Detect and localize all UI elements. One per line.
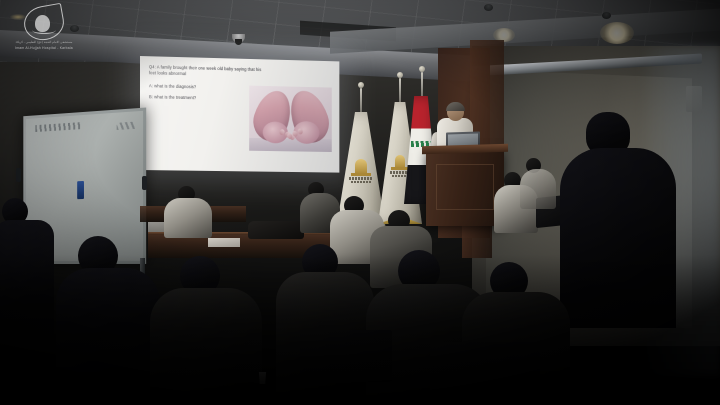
foreground-laptop-2 [430, 342, 540, 392]
watermark: مستشفى الامام الحجة (عج) التعليمي - كربل… [8, 4, 80, 54]
attendee-body [560, 148, 676, 328]
clinical-photo-clubfeet [249, 86, 332, 152]
attendee-body [520, 169, 556, 209]
attendee-body [0, 220, 54, 340]
whiteboard-clip-left [16, 168, 21, 182]
laptop-bag [248, 221, 304, 239]
watermark-english: Imam Al-Hujjah Hospital - Karbala [8, 46, 80, 50]
wooden-podium [426, 150, 504, 226]
watermark-arabic: مستشفى الامام الحجة (عج) التعليمي - كربل… [8, 41, 80, 45]
recessed-ceiling-light [600, 22, 634, 44]
flag-finial-iraq [419, 66, 425, 72]
podium-front-panel [436, 164, 494, 210]
ceiling-downlight-right [602, 12, 611, 19]
conference-hall-photo: Q4: A family brought their one week old … [0, 0, 720, 405]
slide-question: Q4: A family brought their one week old … [149, 64, 265, 80]
foreground-laptop [300, 330, 392, 382]
projected-slide: Q4: A family brought their one week old … [140, 56, 339, 173]
ceiling-downlight-mid [484, 4, 493, 11]
paper-card [148, 222, 164, 232]
blue-marker [77, 181, 84, 199]
paper-sheet [208, 238, 240, 247]
flag-emblem-left [349, 158, 373, 186]
attendee-body [56, 268, 160, 405]
flag-pole-left [360, 88, 362, 114]
whiteboard-writing-right [117, 122, 135, 130]
flag-pole-middle [399, 78, 401, 104]
flag-finial-left [358, 82, 364, 88]
flag-pole-iraq [421, 72, 423, 98]
flag-finial-middle [397, 72, 403, 78]
attendee-body [150, 288, 262, 405]
podium-top-surface [422, 144, 508, 154]
whiteboard-clip-right [142, 176, 147, 190]
attendee-body [164, 198, 212, 238]
whiteboard-writing [35, 122, 81, 132]
droplet-logo-icon [24, 6, 64, 40]
slide-content: Q4: A family brought their one week old … [140, 56, 339, 173]
